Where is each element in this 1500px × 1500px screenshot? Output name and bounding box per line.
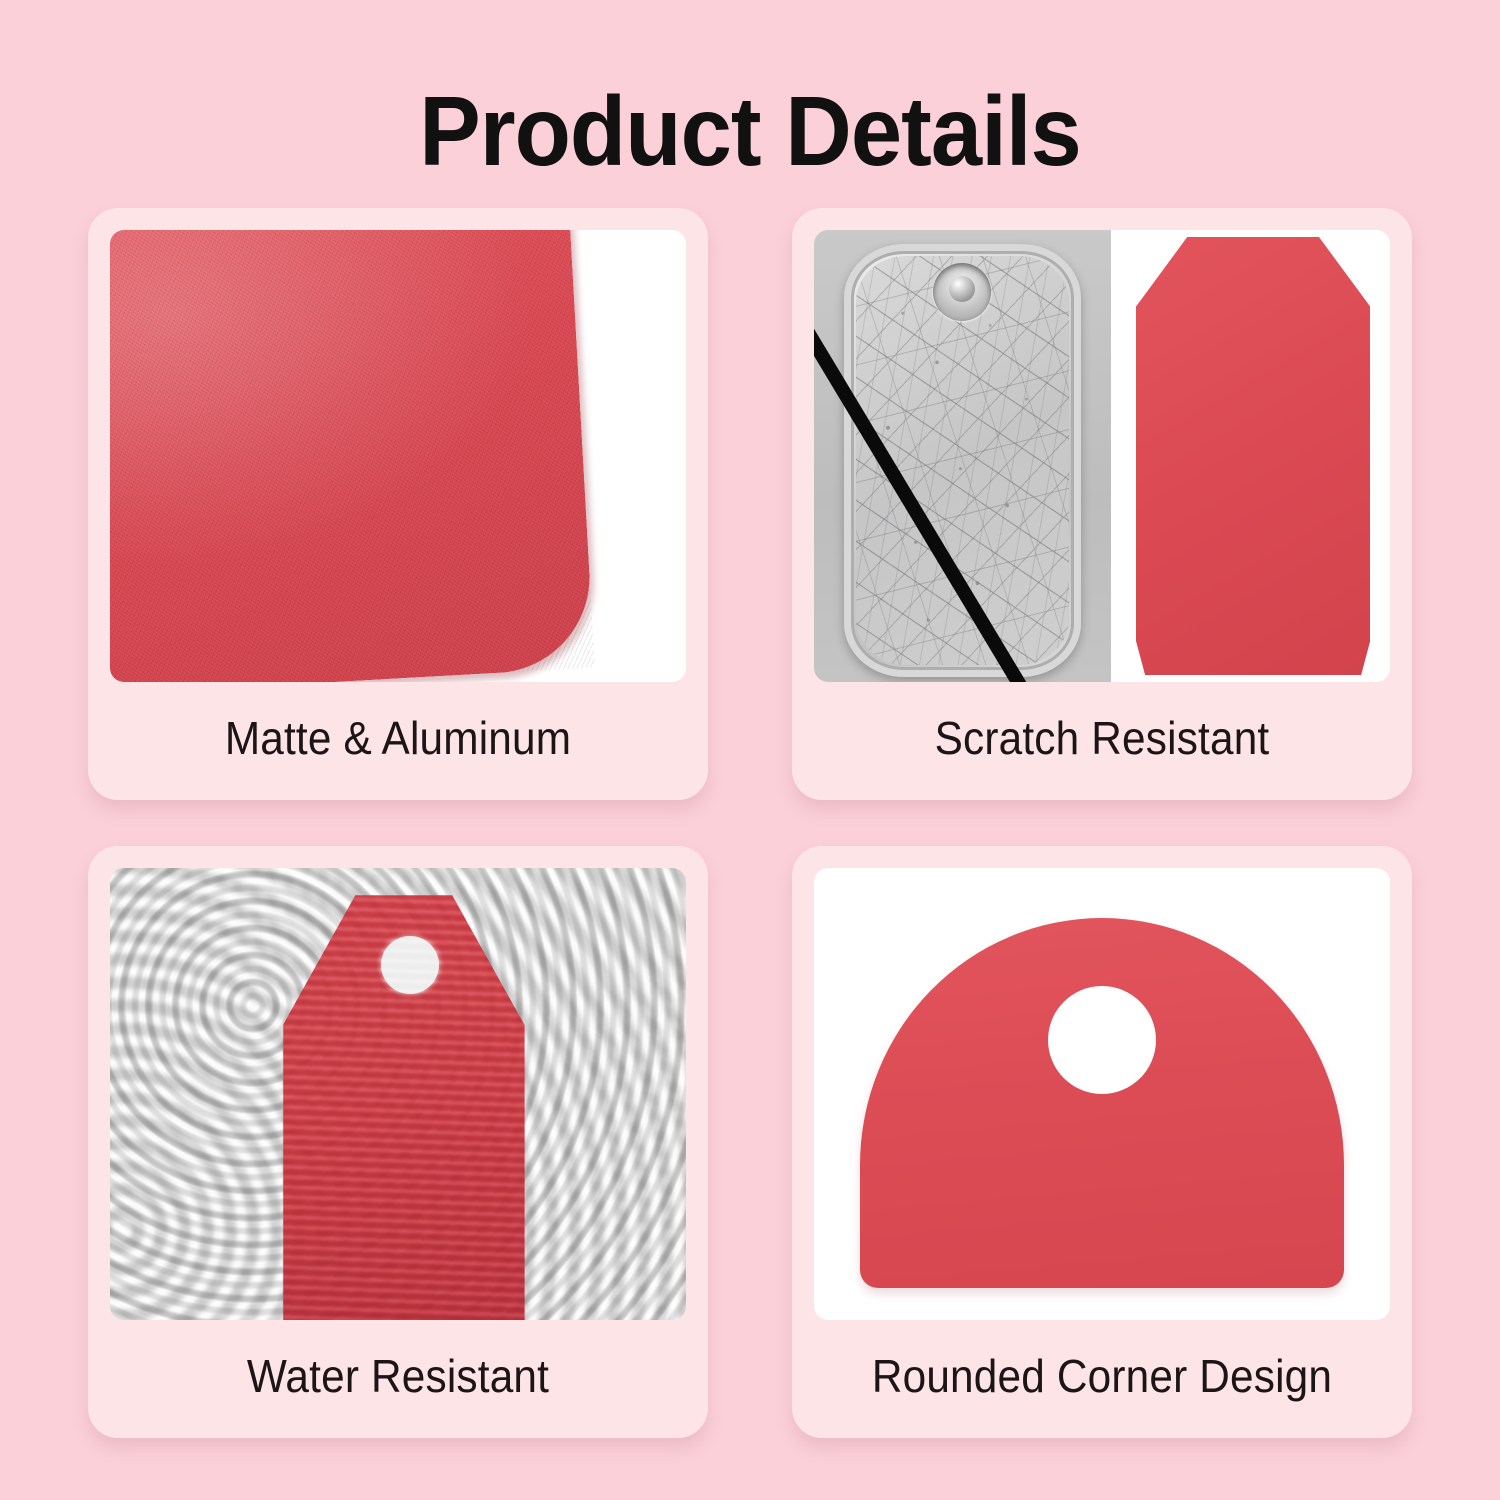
rounded-corner-tag bbox=[860, 918, 1344, 1289]
matte-aluminum-image bbox=[110, 230, 686, 682]
rounded-corner-image bbox=[814, 868, 1390, 1320]
feature-card-rounded-corner-design[interactable]: Rounded Corner Design bbox=[792, 846, 1412, 1438]
pristine-red-tag bbox=[1136, 237, 1371, 675]
scratched-tag-panel bbox=[814, 230, 1111, 682]
matte-grain-texture bbox=[110, 230, 595, 682]
feature-card-scratch-resistant[interactable]: Scratch Resistant bbox=[792, 208, 1412, 800]
feature-label-scratch-resistant: Scratch Resistant bbox=[837, 682, 1367, 800]
feature-label-rounded-corner-design: Rounded Corner Design bbox=[837, 1320, 1367, 1438]
scratch-resistant-image bbox=[814, 230, 1390, 682]
rounded-tag-hole-icon bbox=[1048, 986, 1156, 1094]
aluminum-plate bbox=[110, 230, 595, 682]
feature-grid: Matte & Aluminum Scratch Resistant bbox=[88, 208, 1412, 1438]
page-title: Product Details bbox=[45, 82, 1455, 180]
feature-label-water-resistant: Water Resistant bbox=[133, 1320, 663, 1438]
pristine-tag-panel bbox=[1111, 230, 1390, 682]
feature-card-water-resistant[interactable]: Water Resistant bbox=[88, 846, 708, 1438]
water-resistant-image bbox=[110, 868, 686, 1320]
dog-tag-hole-icon bbox=[933, 263, 991, 321]
submerged-tag-hole-icon bbox=[381, 936, 439, 994]
feature-card-matte-aluminum[interactable]: Matte & Aluminum bbox=[88, 208, 708, 800]
scratched-dog-tag bbox=[844, 244, 1081, 678]
feature-label-matte-aluminum: Matte & Aluminum bbox=[133, 682, 663, 800]
